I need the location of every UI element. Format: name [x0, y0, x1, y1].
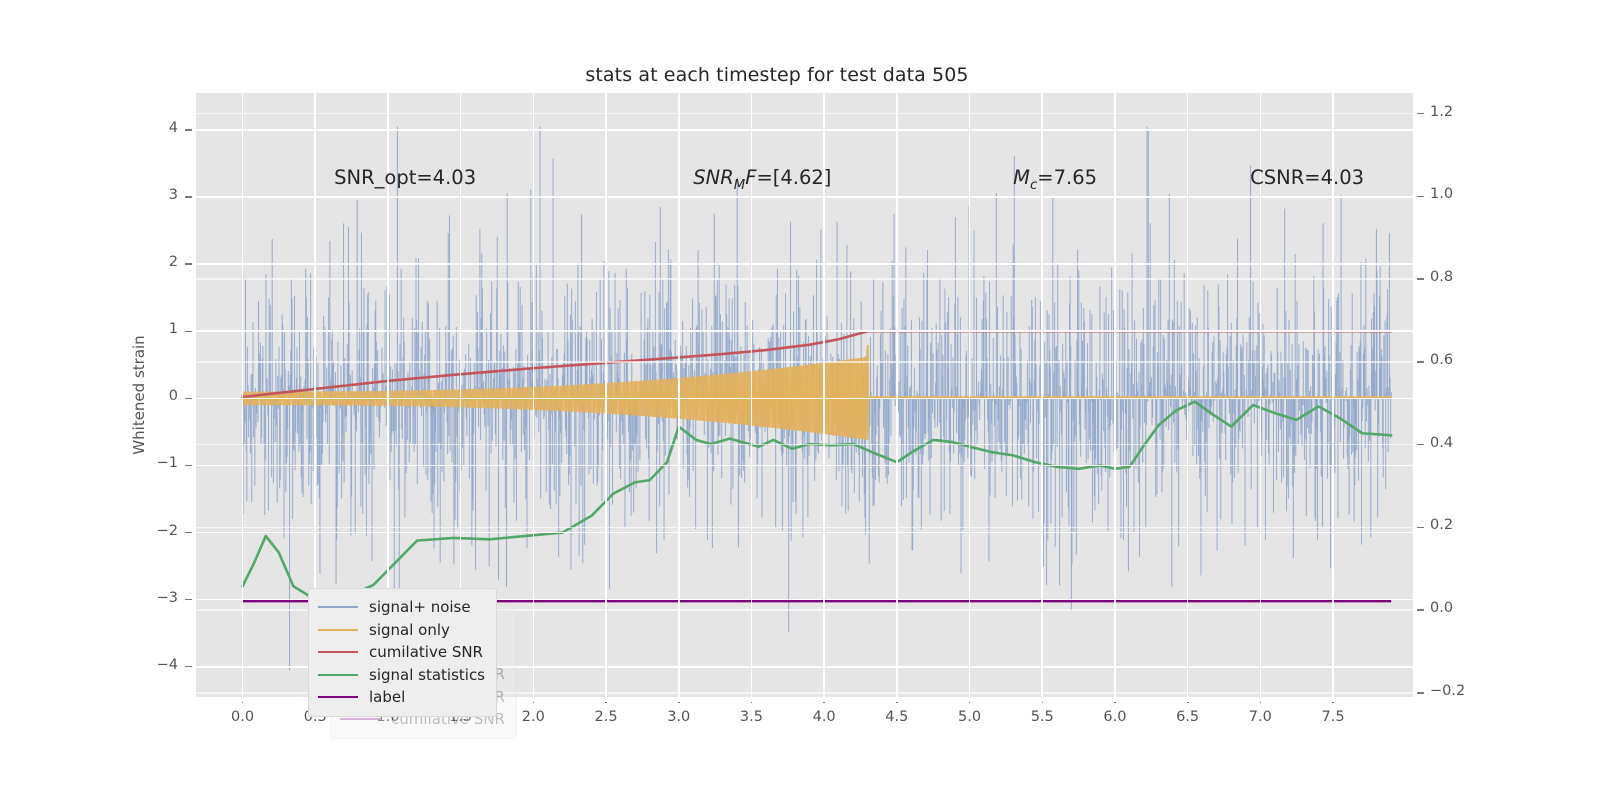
y-tick-label-left: 2 — [136, 254, 178, 270]
x-tick-label: 7.0 — [1236, 709, 1284, 725]
tick-mark — [1417, 609, 1424, 610]
gridline-h — [196, 263, 1413, 265]
gridline-v — [1187, 93, 1189, 697]
tick-mark — [1187, 702, 1189, 703]
tick-mark — [1114, 702, 1116, 703]
legend-line-icon — [318, 696, 358, 698]
y-tick-label-left: −4 — [136, 657, 178, 673]
tick-mark — [1417, 113, 1424, 114]
legend-label: signal+ noise — [369, 598, 471, 616]
gridline-h — [196, 398, 1413, 400]
tick-mark — [185, 331, 192, 332]
legend-line-icon — [318, 629, 358, 631]
tick-mark — [185, 599, 192, 600]
legend-line-icon — [318, 606, 358, 608]
y-tick-label-left: 3 — [136, 187, 178, 203]
tick-mark — [1417, 527, 1424, 528]
tick-mark — [1042, 702, 1044, 703]
legend-label: signal only — [369, 621, 450, 639]
legend-line-icon — [340, 718, 380, 720]
tick-mark — [242, 702, 244, 703]
x-tick-label: 3.5 — [727, 709, 775, 725]
tick-mark — [1417, 692, 1424, 693]
gridline-h-minor — [196, 361, 1413, 363]
x-tick-label: 4.0 — [800, 709, 848, 725]
legend-label: signal statistics — [369, 666, 485, 684]
tick-mark — [1417, 278, 1424, 279]
tick-mark — [185, 263, 192, 264]
y-tick-label-right: 1.2 — [1430, 104, 1453, 120]
tick-mark — [1417, 444, 1424, 445]
tick-mark — [185, 666, 192, 667]
x-tick-label: 0.0 — [219, 709, 267, 725]
tick-mark — [533, 702, 535, 703]
legend-item[interactable]: label — [318, 686, 485, 709]
gridline-h-minor — [196, 113, 1413, 115]
y-tick-label-left: 4 — [136, 120, 178, 136]
y-tick-label-left: −1 — [136, 455, 178, 471]
gridline-h-minor — [196, 444, 1413, 446]
gridline-h-minor — [196, 527, 1413, 529]
tick-mark — [751, 702, 753, 703]
legend-label: cumilative SNR — [369, 643, 483, 661]
gridline-h-minor — [196, 196, 1413, 198]
tick-mark — [605, 702, 607, 703]
tick-mark — [1417, 196, 1424, 197]
legend-item[interactable]: signal only — [318, 619, 485, 642]
tick-mark — [1332, 702, 1334, 703]
legend-line-icon — [318, 674, 358, 676]
y-tick-label-left: 1 — [136, 321, 178, 337]
tick-mark — [896, 702, 898, 703]
gridline-h — [196, 330, 1413, 332]
gridline-v — [1114, 93, 1116, 697]
annotation-snr-opt: SNR_opt=4.03 — [334, 166, 476, 189]
y-tick-label-left: −2 — [136, 523, 178, 539]
x-tick-label: 3.0 — [655, 709, 703, 725]
tick-mark — [823, 702, 825, 703]
y-tick-label-left: 0 — [136, 388, 178, 404]
x-tick-label: 6.0 — [1091, 709, 1139, 725]
gridline-v — [533, 93, 535, 697]
y-tick-label-right: 0.4 — [1430, 435, 1453, 451]
y-tick-label-right: 0.6 — [1430, 352, 1453, 368]
x-tick-label: 5.5 — [1018, 709, 1066, 725]
gridline-v — [242, 93, 244, 697]
gridline-h-minor — [196, 278, 1413, 280]
legend-item[interactable]: cumilative SNR — [318, 641, 485, 664]
y-tick-label-right: −0.2 — [1430, 683, 1465, 699]
x-tick-label: 4.5 — [873, 709, 921, 725]
gridline-v — [605, 93, 607, 697]
tick-mark — [185, 398, 192, 399]
tick-mark — [1417, 361, 1424, 362]
y-tick-label-right: 0.2 — [1430, 517, 1453, 533]
legend-line-icon — [318, 651, 358, 653]
legend-label: label — [369, 688, 405, 706]
x-tick-label: 2.5 — [582, 709, 630, 725]
y-tick-label-right: 0.8 — [1430, 269, 1453, 285]
tick-mark — [185, 532, 192, 533]
y-tick-label-left: −3 — [136, 590, 178, 606]
annotation-chirp-mass: Mc=7.65 — [1013, 166, 1097, 193]
gridline-h — [196, 465, 1413, 467]
annotation-snr-mf: SNRMF=[4.62] — [693, 166, 831, 193]
tick-mark — [678, 702, 680, 703]
tick-mark — [185, 465, 192, 466]
y-tick-label-right: 1.0 — [1430, 186, 1453, 202]
legend-item[interactable]: signal+ noise — [318, 596, 485, 619]
tick-mark — [969, 702, 971, 703]
x-tick-label: 6.5 — [1164, 709, 1212, 725]
gridline-v — [678, 93, 680, 697]
tick-mark — [185, 196, 192, 197]
tick-mark — [1260, 702, 1262, 703]
x-tick-label: 5.0 — [946, 709, 994, 725]
gridline-v — [969, 93, 971, 697]
annotation-csnr: CSNR=4.03 — [1250, 166, 1364, 189]
legend[interactable]: signal+ noisesignal onlycumilative SNRsi… — [308, 588, 497, 717]
legend-item[interactable]: signal statistics — [318, 664, 485, 687]
gridline-v — [896, 93, 898, 697]
gridline-h — [196, 129, 1413, 131]
x-tick-label: 7.5 — [1309, 709, 1357, 725]
tick-mark — [185, 129, 192, 130]
gridline-h — [196, 532, 1413, 534]
y-tick-label-right: 0.0 — [1430, 600, 1453, 616]
page-title: stats at each timestep for test data 505 — [196, 64, 1358, 86]
figure-canvas: stats at each timestep for test data 505… — [0, 0, 1600, 800]
